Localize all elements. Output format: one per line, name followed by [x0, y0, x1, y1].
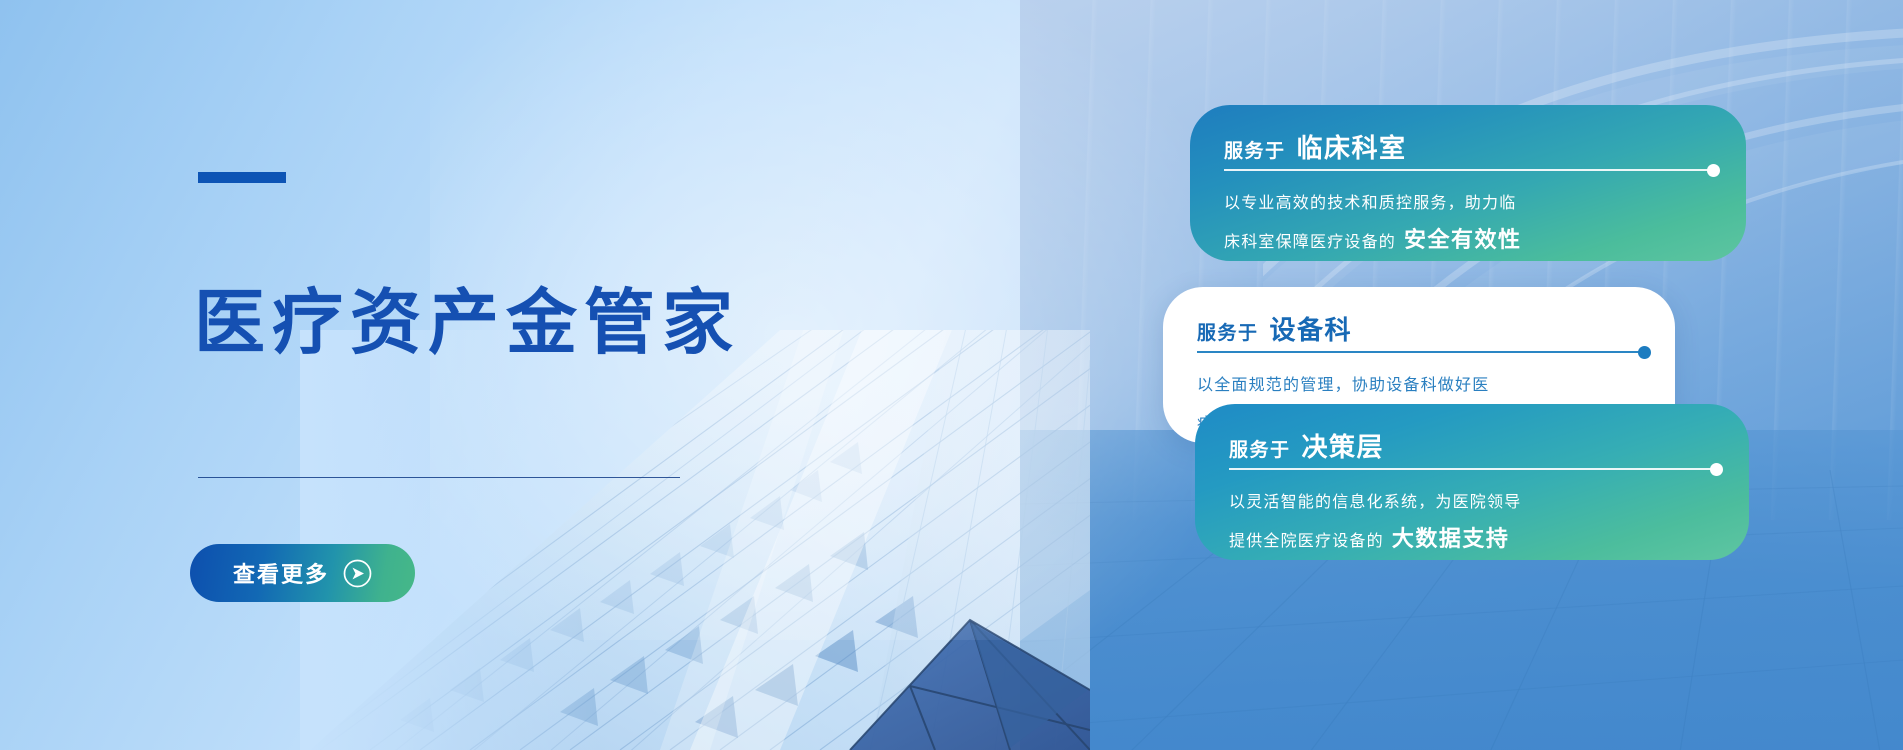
card-progress-rule — [1224, 169, 1714, 171]
card-title: 决策层 — [1302, 427, 1385, 464]
card-prefix: 服务于 — [1229, 435, 1291, 462]
card-prefix: 服务于 — [1224, 136, 1286, 163]
divider — [198, 477, 680, 478]
service-card-clinical[interactable]: 服务于 临床科室 以专业高效的技术和质控服务，助力临 床科室保障医疗设备的 安全… — [1190, 105, 1746, 261]
card-body-line1: 以全面规范的管理，协助设备科做好医 — [1197, 371, 1489, 395]
hero-left-column: 医疗资产金管家 查看更多 — [198, 0, 898, 750]
view-more-label: 查看更多 — [233, 557, 329, 589]
card-header: 服务于 决策层 — [1229, 427, 1384, 464]
card-body-line2: 床科室保障医疗设备的 — [1224, 228, 1396, 252]
card-progress-rule — [1229, 468, 1717, 470]
card-prefix: 服务于 — [1197, 318, 1259, 345]
card-title: 临床科室 — [1297, 128, 1407, 165]
card-progress-dot — [1710, 463, 1723, 476]
card-body-highlight: 大数据支持 — [1392, 521, 1510, 553]
card-body: 以灵活智能的信息化系统，为医院领导 提供全院医疗设备的 大数据支持 — [1229, 488, 1521, 560]
card-progress-dot — [1707, 164, 1720, 177]
hero-banner: 医疗资产金管家 查看更多 服务于 临床科室 以专业高效的技 — [0, 0, 1903, 750]
accent-bar — [198, 172, 286, 183]
card-title: 设备科 — [1270, 310, 1353, 347]
card-body-line2: 提供全院医疗设备的 — [1229, 527, 1384, 551]
card-body-highlight: 安全有效性 — [1404, 222, 1522, 254]
card-body-line1: 以灵活智能的信息化系统，为医院领导 — [1229, 488, 1521, 512]
arrow-right-circle-icon — [343, 559, 372, 588]
card-progress-dot — [1638, 346, 1651, 359]
card-body-line1: 以专业高效的技术和质控服务，助力临 — [1224, 189, 1516, 213]
card-progress-rule — [1197, 351, 1645, 353]
page-title: 医疗资产金管家 — [194, 288, 740, 359]
card-body: 以专业高效的技术和质控服务，助力临 床科室保障医疗设备的 安全有效性 — [1224, 189, 1522, 261]
view-more-button[interactable]: 查看更多 — [190, 544, 415, 602]
card-header: 服务于 设备科 — [1197, 310, 1352, 347]
service-card-decision[interactable]: 服务于 决策层 以灵活智能的信息化系统，为医院领导 提供全院医疗设备的 大数据支… — [1195, 404, 1749, 560]
card-header: 服务于 临床科室 — [1224, 128, 1407, 165]
